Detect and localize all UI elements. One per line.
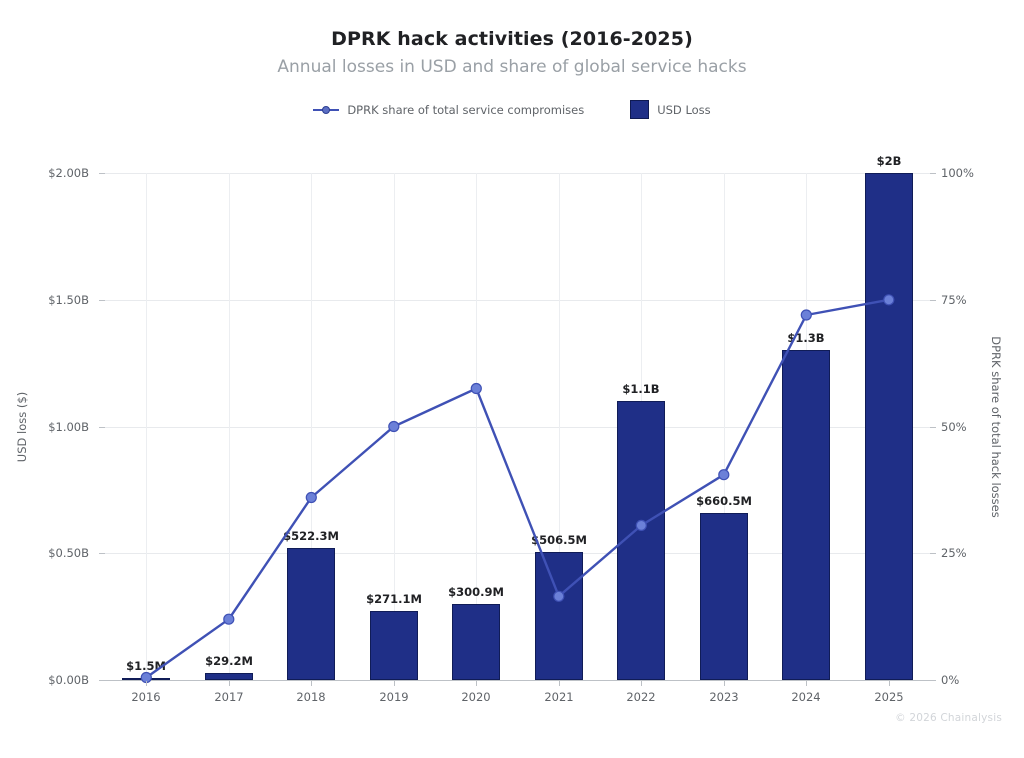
x-axis-tick-label-2025: 2025 xyxy=(844,690,934,704)
plot-area: $0.00B$0.50B$1.00B$1.50B$2.00B 0%25%50%7… xyxy=(105,173,930,680)
x-axis-tick-mark xyxy=(311,681,312,686)
gridline-vertical xyxy=(146,173,147,680)
x-axis-tick-mark xyxy=(476,681,477,686)
y-axis-left-tick-mark xyxy=(99,553,105,554)
line-path xyxy=(146,300,889,678)
y-axis-left-tick-mark xyxy=(99,680,105,681)
bar-value-label-2022: $1.1B xyxy=(576,382,706,396)
legend-label-usd-loss: USD Loss xyxy=(657,103,710,117)
y-axis-right-tick-label: 0% xyxy=(941,673,1001,687)
x-axis-tick-mark xyxy=(394,681,395,686)
bar-2023[interactable] xyxy=(700,513,748,680)
y-axis-right-tick-mark xyxy=(930,427,936,428)
x-axis-tick-label-2016: 2016 xyxy=(101,690,191,704)
legend-item-usd-loss[interactable]: USD Loss xyxy=(630,100,710,119)
x-axis-tick-label-2022: 2022 xyxy=(596,690,686,704)
x-axis-tick-mark xyxy=(889,681,890,686)
bar-2016[interactable] xyxy=(122,678,170,680)
bar-value-label-2017: $29.2M xyxy=(164,654,294,668)
x-axis-tick-label-2020: 2020 xyxy=(431,690,521,704)
bar-value-label-2024: $1.3B xyxy=(741,331,871,345)
chart-container: DPRK hack activities (2016-2025) Annual … xyxy=(0,0,1024,758)
watermark: © 2026 Chainalysis xyxy=(895,712,1002,724)
y-axis-left-tick-mark xyxy=(99,427,105,428)
bar-2018[interactable] xyxy=(287,548,335,680)
y-axis-left-tick-label: $1.00B xyxy=(29,420,89,434)
bar-value-label-2025: $2B xyxy=(824,154,954,168)
y-axis-left-tick-mark xyxy=(99,173,105,174)
bar-value-label-2020: $300.9M xyxy=(411,585,541,599)
x-axis-tick-label-2018: 2018 xyxy=(266,690,356,704)
chart-legend: DPRK share of total service compromises … xyxy=(0,100,1024,119)
bar-value-label-2021: $506.5M xyxy=(494,533,624,547)
bar-value-label-2023: $660.5M xyxy=(659,494,789,508)
y-axis-right-tick-mark xyxy=(930,553,936,554)
y-axis-left-tick-label: $1.50B xyxy=(29,293,89,307)
legend-label-dprk-share: DPRK share of total service compromises xyxy=(347,103,584,117)
y-axis-right-tick-label: 75% xyxy=(941,293,1001,307)
gridline-vertical xyxy=(229,173,230,680)
x-axis-tick-label-2017: 2017 xyxy=(184,690,274,704)
bar-value-label-2018: $522.3M xyxy=(246,529,376,543)
x-axis-tick-mark xyxy=(559,681,560,686)
x-axis-tick-mark xyxy=(146,681,147,686)
x-axis-tick-mark xyxy=(229,681,230,686)
y-axis-right-tick-label: 25% xyxy=(941,546,1001,560)
chart-title: DPRK hack activities (2016-2025) xyxy=(0,28,1024,50)
y-axis-right-tick-label: 50% xyxy=(941,420,1001,434)
chart-subtitle: Annual losses in USD and share of global… xyxy=(0,57,1024,77)
square-swatch-icon xyxy=(630,100,649,119)
legend-item-dprk-share[interactable]: DPRK share of total service compromises xyxy=(313,103,584,117)
x-axis-tick-label-2021: 2021 xyxy=(514,690,604,704)
bar-2024[interactable] xyxy=(782,350,830,680)
bar-2017[interactable] xyxy=(205,673,253,680)
x-axis-tick-label-2024: 2024 xyxy=(761,690,851,704)
y-axis-right-tick-label: 100% xyxy=(941,166,1001,180)
y-axis-left-tick-label: $0.50B xyxy=(29,546,89,560)
bar-2025[interactable] xyxy=(865,173,913,680)
x-axis-tick-mark xyxy=(641,681,642,686)
y-axis-right-tick-mark xyxy=(930,173,936,174)
x-axis-tick-label-2023: 2023 xyxy=(679,690,769,704)
bar-2022[interactable] xyxy=(617,401,665,680)
bar-2021[interactable] xyxy=(535,552,583,680)
bar-2019[interactable] xyxy=(370,611,418,680)
line-marker-icon xyxy=(313,104,339,116)
y-axis-right-tick-mark xyxy=(930,680,936,681)
y-axis-left-tick-label: $0.00B xyxy=(29,673,89,687)
y-axis-title-left: USD loss ($) xyxy=(15,392,29,462)
x-axis-tick-mark xyxy=(806,681,807,686)
x-axis-tick-mark xyxy=(724,681,725,686)
y-axis-left-tick-mark xyxy=(99,300,105,301)
bar-2020[interactable] xyxy=(452,604,500,680)
y-axis-right-tick-mark xyxy=(930,300,936,301)
x-axis-tick-label-2019: 2019 xyxy=(349,690,439,704)
y-axis-left-tick-label: $2.00B xyxy=(29,166,89,180)
